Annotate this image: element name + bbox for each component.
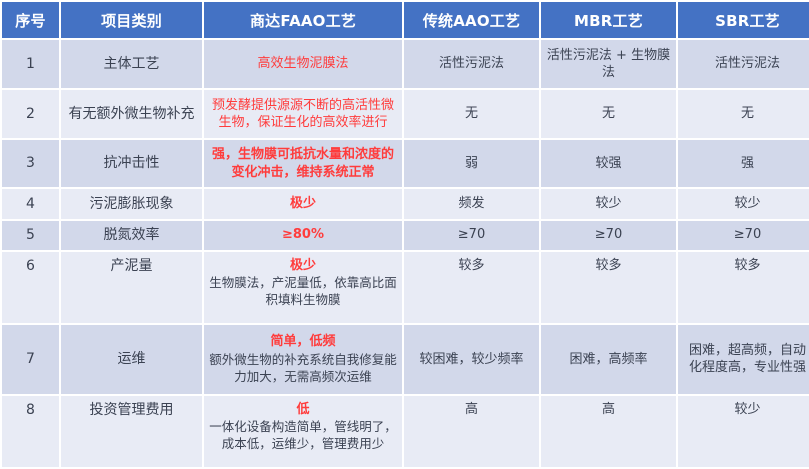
cell-aao: 活性污泥法 <box>404 40 539 88</box>
cell-faao-highlight: 极少 <box>209 257 397 275</box>
cell-faao-highlight: 低 <box>209 401 397 419</box>
cell-mbr: 较少 <box>541 189 676 218</box>
column-header-faao: 商达FAAO工艺 <box>204 2 402 38</box>
cell-sbr: 活性污泥法 <box>678 40 809 88</box>
row-seq: 7 <box>2 325 59 394</box>
table-row: 5 脱氮效率 ≥80% ≥70 ≥70 ≥70 <box>2 221 809 250</box>
cell-mbr: 高 <box>541 396 676 467</box>
table-row: 6 产泥量 极少 生物膜法，产泥量低，依靠高比面积填料生物膜 较多 较多 较多 <box>2 252 809 323</box>
table-row: 7 运维 简单，低频 额外微生物的补充系统自我修复能力加大，无需高频次运维 较困… <box>2 325 809 394</box>
cell-aao: 无 <box>404 90 539 138</box>
cell-faao: 低 一体化设备构造简单，管线明了，成本低，运维少，管理费用少 <box>204 396 402 467</box>
table-row: 4 污泥膨胀现象 极少 频发 较少 较少 <box>2 189 809 218</box>
cell-mbr: 困难，高频率 <box>541 325 676 394</box>
cell-mbr: 较强 <box>541 140 676 188</box>
cell-faao: 高效生物泥膜法 <box>204 40 402 88</box>
cell-faao: 极少 <box>204 189 402 218</box>
process-comparison-table: 序号 项目类别 商达FAAO工艺 传统AAO工艺 MBR工艺 SBR工艺 1 主… <box>0 0 809 469</box>
cell-faao: 预发酵提供源源不断的高活性微生物，保证生化的高效率进行 <box>204 90 402 138</box>
column-header-mbr: MBR工艺 <box>541 2 676 38</box>
cell-faao: 极少 生物膜法，产泥量低，依靠高比面积填料生物膜 <box>204 252 402 323</box>
cell-faao-detail: 生物膜法，产泥量低，依靠高比面积填料生物膜 <box>209 274 397 309</box>
cell-aao: 较多 <box>404 252 539 323</box>
cell-mbr: 活性污泥法 + 生物膜法 <box>541 40 676 88</box>
cell-sbr: ≥70 <box>678 221 809 250</box>
cell-aao: 弱 <box>404 140 539 188</box>
row-seq: 2 <box>2 90 59 138</box>
column-header-sbr: SBR工艺 <box>678 2 809 38</box>
row-category: 有无额外微生物补充 <box>61 90 202 138</box>
cell-aao: 较困难，较少频率 <box>404 325 539 394</box>
table-header-row: 序号 项目类别 商达FAAO工艺 传统AAO工艺 MBR工艺 SBR工艺 <box>2 2 809 38</box>
cell-aao: ≥70 <box>404 221 539 250</box>
cell-sbr: 较多 <box>678 252 809 323</box>
cell-sbr: 强 <box>678 140 809 188</box>
cell-sbr: 较少 <box>678 396 809 467</box>
table-row: 1 主体工艺 高效生物泥膜法 活性污泥法 活性污泥法 + 生物膜法 活性污泥法 <box>2 40 809 88</box>
cell-faao: 简单，低频 额外微生物的补充系统自我修复能力加大，无需高频次运维 <box>204 325 402 394</box>
row-seq: 6 <box>2 252 59 323</box>
cell-faao-detail: 额外微生物的补充系统自我修复能力加大，无需高频次运维 <box>209 351 397 386</box>
row-seq: 8 <box>2 396 59 467</box>
row-category: 污泥膨胀现象 <box>61 189 202 218</box>
row-category: 运维 <box>61 325 202 394</box>
cell-aao: 频发 <box>404 189 539 218</box>
cell-faao: ≥80% <box>204 221 402 250</box>
cell-sbr: 无 <box>678 90 809 138</box>
cell-aao: 高 <box>404 396 539 467</box>
row-seq: 3 <box>2 140 59 188</box>
row-category: 投资管理费用 <box>61 396 202 467</box>
column-header-seq: 序号 <box>2 2 59 38</box>
row-category: 抗冲击性 <box>61 140 202 188</box>
row-category: 脱氮效率 <box>61 221 202 250</box>
column-header-category: 项目类别 <box>61 2 202 38</box>
cell-faao-detail: 一体化设备构造简单，管线明了，成本低，运维少，管理费用少 <box>209 418 397 453</box>
cell-mbr: 无 <box>541 90 676 138</box>
row-seq: 4 <box>2 189 59 218</box>
cell-faao-highlight: 简单，低频 <box>209 333 397 351</box>
table-row: 3 抗冲击性 强，生物膜可抵抗水量和浓度的变化冲击，维持系统正常 弱 较强 强 <box>2 140 809 188</box>
row-category: 主体工艺 <box>61 40 202 88</box>
cell-sbr: 较少 <box>678 189 809 218</box>
cell-mbr: ≥70 <box>541 221 676 250</box>
row-seq: 5 <box>2 221 59 250</box>
cell-faao: 强，生物膜可抵抗水量和浓度的变化冲击，维持系统正常 <box>204 140 402 188</box>
cell-mbr: 较多 <box>541 252 676 323</box>
table-row: 2 有无额外微生物补充 预发酵提供源源不断的高活性微生物，保证生化的高效率进行 … <box>2 90 809 138</box>
table-row: 8 投资管理费用 低 一体化设备构造简单，管线明了，成本低，运维少，管理费用少 … <box>2 396 809 467</box>
cell-sbr: 困难，超高频，自动化程度高，专业性强 <box>678 325 809 394</box>
row-category: 产泥量 <box>61 252 202 323</box>
column-header-aao: 传统AAO工艺 <box>404 2 539 38</box>
row-seq: 1 <box>2 40 59 88</box>
